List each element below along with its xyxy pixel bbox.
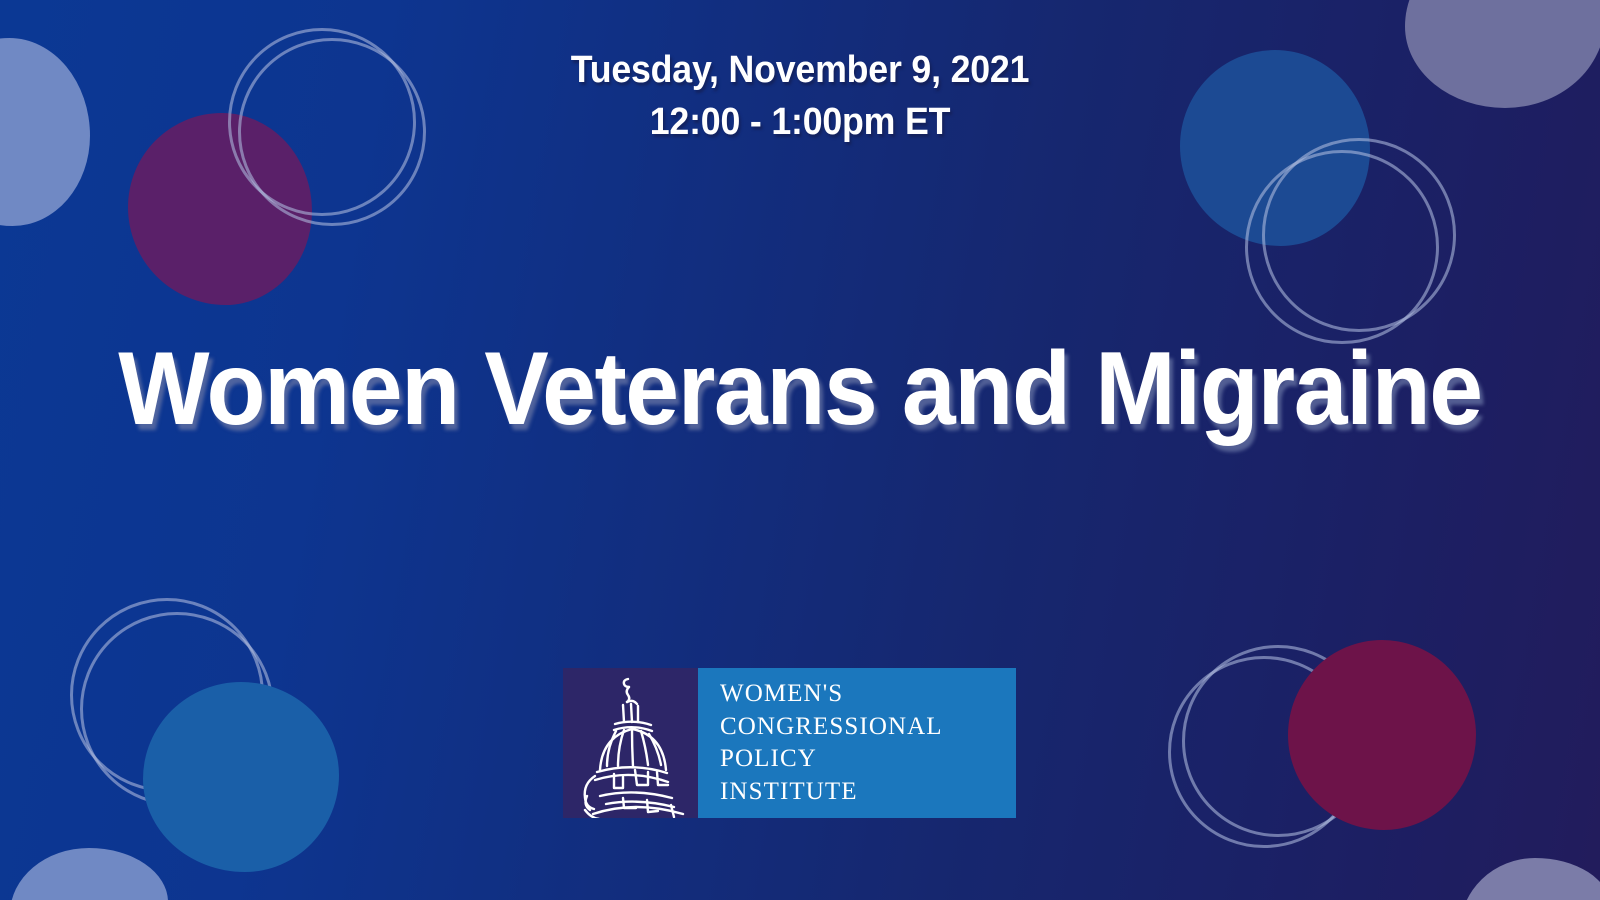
- event-time: 12:00 - 1:00pm ET: [48, 96, 1552, 148]
- decor-circle-bottom-right-crimson: [1288, 640, 1476, 830]
- decor-ring-bottom-right-inner: [1168, 656, 1360, 848]
- decor-ring-bottom-left-inner: [80, 612, 274, 806]
- logo-wordmark-panel: WOMEN'S CONGRESSIONAL POLICY INSTITUTE: [698, 668, 1016, 818]
- logo-wordmark-line-1: WOMEN'S: [720, 678, 1016, 711]
- event-datetime: Tuesday, November 9, 2021 12:00 - 1:00pm…: [48, 44, 1552, 149]
- decor-ring-bottom-left-outer: [70, 598, 264, 792]
- logo-mark-panel: [563, 668, 698, 818]
- logo-wordmark-line-4: INSTITUTE: [720, 776, 1016, 809]
- logo-wordmark-line-2: CONGRESSIONAL: [720, 711, 1016, 744]
- decor-ring-top-right-inner: [1245, 150, 1439, 344]
- event-promo-graphic: Tuesday, November 9, 2021 12:00 - 1:00pm…: [0, 0, 1600, 900]
- event-date: Tuesday, November 9, 2021: [48, 44, 1552, 96]
- decor-circle-bottom-left-blue: [143, 682, 339, 872]
- page-title: Women Veterans and Migraine: [56, 335, 1544, 444]
- decor-ring-bottom-right-outer: [1182, 645, 1374, 837]
- decor-circle-bottom-right-gray-violet: [1460, 858, 1600, 900]
- wcpi-logo: WOMEN'S CONGRESSIONAL POLICY INSTITUTE: [563, 668, 1016, 818]
- decor-circle-bottom-left-periwinkle: [10, 848, 168, 900]
- logo-wordmark-line-3: POLICY: [720, 743, 1016, 776]
- decor-ring-top-right-outer: [1262, 138, 1456, 332]
- capitol-dome-sketch-icon: [571, 674, 691, 818]
